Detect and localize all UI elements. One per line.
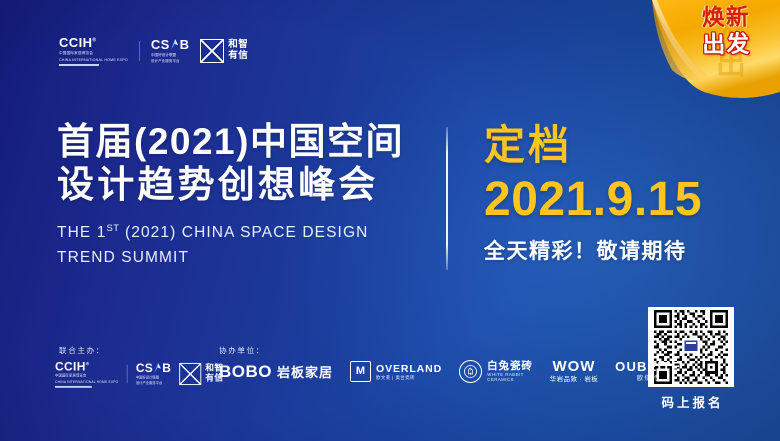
csnb-wordmark: CS B <box>151 38 189 51</box>
bobo-cn: 岩板家居 <box>277 362 333 381</box>
ccih-underline <box>59 64 99 66</box>
svg-text:出: 出 <box>716 48 746 81</box>
wow-cn: 华岩品致 · 岩板 <box>550 377 598 384</box>
ccih-registered-bottom: ® <box>86 362 90 368</box>
logo-ccih-top: CCIH® 中国国际家居博览会 CHINA INTERNATIONAL HOME… <box>59 36 128 66</box>
csnb-sub-cn-bottom: 中国好设计联盟 <box>136 375 159 379</box>
ccih-wordmark: CCIH® <box>59 36 96 49</box>
white-rabbit-en-2: CERAMICS <box>487 377 533 382</box>
hezhi-wordmark: 和智 有信 <box>228 40 248 61</box>
date-block: 定档 2021.9.15 全天精彩！敬请期待 <box>484 124 734 264</box>
csnb-mark-right: B <box>180 38 190 51</box>
ribbon-text-group: 焕新 出发 <box>680 5 773 57</box>
csnb-mark-left-bottom: CS <box>136 362 153 374</box>
sponsors-section: 联合主办： 协办单位： CCIH® 中国国际家居博览会 CHINA INTERN… <box>0 345 780 415</box>
logo-hezhi-youxin-bottom: 和智 有信 <box>179 363 223 385</box>
headline-cn-line-2: 设计趋势创想峰会 <box>57 164 437 207</box>
event-date: 2021.9.15 <box>484 173 734 227</box>
csnb-arrow-icon <box>170 38 179 51</box>
csnb-arrow-icon-bottom <box>154 362 162 374</box>
hezhi-line-2: 有信 <box>228 51 248 62</box>
date-tagline: 全天精彩！敬请期待 <box>484 239 734 264</box>
white-rabbit-seal-icon <box>459 360 482 383</box>
bobo-wordmark: BOBO <box>219 363 272 380</box>
overland-text: OVERLAND 欧文莱 | 奥台瓷砖 <box>376 363 442 380</box>
event-poster: 焕 出 焕新 出发 CCIH® 中国国际家居博览会 CHINA INTERNAT… <box>0 0 780 441</box>
coorganizer-logo-row: BOBO 岩板家居 M OVERLAND 欧文莱 | 奥台瓷砖 <box>219 359 681 384</box>
coorganizer-heading: 协办单位： <box>219 345 265 356</box>
csnb-wordmark-bottom: CS B <box>136 362 171 374</box>
headline-en-prefix: THE 1 <box>57 224 106 241</box>
ccih-registered: ® <box>92 38 96 44</box>
oubeite-text: OUBEITE 欧倍特 <box>615 360 681 383</box>
csnb-mark-left: CS <box>151 38 170 51</box>
ccih-sub-cn-bottom: 中国国际家居博览会 <box>55 374 86 378</box>
hezhi-envelope-icon-bottom <box>179 363 201 385</box>
csnb-sub-en-bottom: 设计产业服务平台 <box>136 382 162 386</box>
overland-badge-icon: M <box>350 361 371 382</box>
logo-csnb-bottom: CS B 中国好设计联盟 设计产业服务平台 <box>136 362 171 387</box>
ribbon-line-2: 出发 <box>680 32 772 57</box>
logo-wow: WOW 华岩品致 · 岩板 <box>550 359 598 384</box>
svg-text:焕: 焕 <box>720 8 750 41</box>
ccih-sub-en-bottom: CHINA INTERNATIONAL HOME EXPO <box>55 380 118 384</box>
logo-white-rabbit: 白兔瓷砖 WHITE RABBIT CERAMICS <box>459 360 533 383</box>
date-keyword: 定档 <box>484 124 734 167</box>
headline-en-line-2: TREND SUMMIT <box>57 245 437 270</box>
ccih-sub-en: CHINA INTERNATIONAL HOME EXPO <box>59 58 128 63</box>
logo-ccih-bottom: CCIH® 中国国际家居博览会 CHINA INTERNATIONAL HOME… <box>55 360 118 387</box>
white-rabbit-text: 白兔瓷砖 WHITE RABBIT CERAMICS <box>487 360 533 382</box>
hezhi-envelope-icon <box>200 39 224 63</box>
headline-en-ordinal: ST <box>106 223 119 234</box>
top-organizer-logos: CCIH® 中国国际家居博览会 CHINA INTERNATIONAL HOME… <box>59 36 248 66</box>
vertical-separator <box>446 127 448 270</box>
corner-ribbon: 焕 出 焕新 出发 <box>620 0 780 104</box>
csnb-sub-cn: 中国好设计联盟 <box>151 53 176 58</box>
host-heading: 联合主办： <box>59 345 105 356</box>
oubeite-wordmark: OUBEITE <box>615 360 681 374</box>
headline-en-line-1: THE 1ST (2021) CHINA SPACE DESIGN <box>57 220 437 245</box>
overland-wordmark: OVERLAND <box>376 363 442 375</box>
logo-oubeite: OUBEITE 欧倍特 <box>615 360 681 383</box>
white-rabbit-cn: 白兔瓷砖 <box>487 360 533 372</box>
ccih-sub-cn: 中国国际家居博览会 <box>59 51 93 56</box>
wow-wordmark: WOW <box>552 359 595 375</box>
ribbon-line-1: 焕新 <box>680 5 772 30</box>
wow-text: WOW 华岩品致 · 岩板 <box>550 359 598 384</box>
logo-bobo: BOBO 岩板家居 <box>219 362 333 381</box>
logo-overland: M OVERLAND 欧文莱 | 奥台瓷砖 <box>350 361 442 382</box>
oubeite-cn: 欧倍特 <box>637 376 660 383</box>
logo-divider-1 <box>139 41 140 61</box>
ccih-mark-text: CCIH <box>59 35 92 50</box>
headline-block: 首届(2021)中国空间 设计趋势创想峰会 THE 1ST (2021) CHI… <box>57 121 437 270</box>
logo-csnb-top: CS B 中国好设计联盟 设计产业服务平台 <box>151 38 189 65</box>
headline-en-rest: (2021) CHINA SPACE DESIGN <box>120 224 369 241</box>
csnb-sub-en: 设计产业服务平台 <box>151 59 180 64</box>
host-logo-row: CCIH® 中国国际家居博览会 CHINA INTERNATIONAL HOME… <box>55 360 224 387</box>
ccih-mark-text-bottom: CCIH <box>55 359 86 373</box>
csnb-mark-right-bottom: B <box>162 362 171 374</box>
ccih-wordmark-bottom: CCIH® <box>55 360 89 372</box>
ccih-underline-bottom <box>55 386 92 387</box>
overland-cn: 欧文莱 | 奥台瓷砖 <box>376 375 442 380</box>
logo-hezhi-youxin-top: 和智 有信 <box>200 39 248 63</box>
headline-cn-line-1: 首届(2021)中国空间 <box>57 121 437 164</box>
logo-divider-2 <box>127 365 128 383</box>
